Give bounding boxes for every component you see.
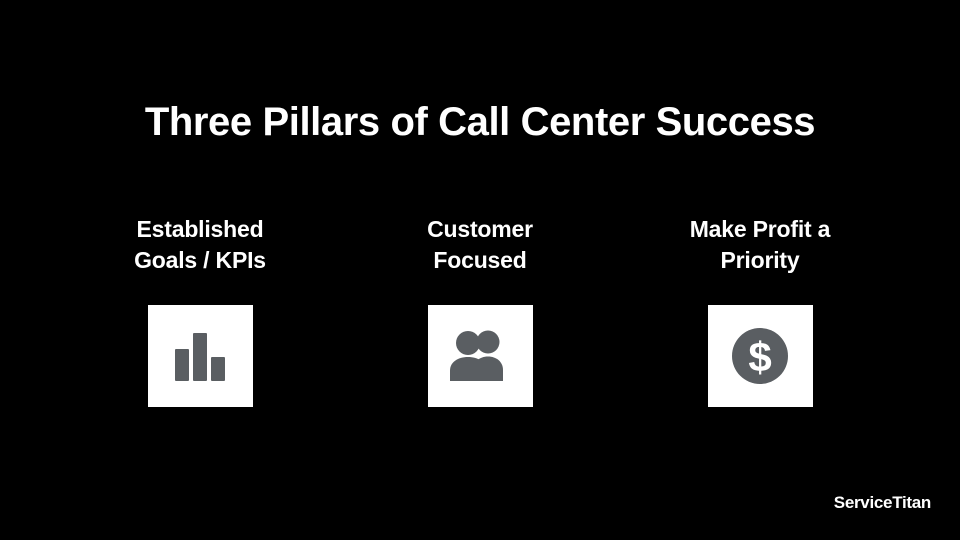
pillar-icon-tile [428,305,533,407]
pillar-icon-tile: $ [708,305,813,407]
page-title: Three Pillars of Call Center Success [0,96,960,148]
dollar-coin-icon: $ [730,326,790,386]
svg-text:$: $ [748,334,771,381]
slide-canvas: Three Pillars of Call Center Success Est… [0,0,960,540]
pillar-icon-tile [148,305,253,407]
pillar-item: Customer Focused [340,214,620,407]
people-icon [448,327,512,385]
pillar-heading: Established Goals / KPIs [134,214,266,276]
pillar-heading: Make Profit a Priority [690,214,831,276]
bar-chart-icon [171,327,229,385]
pillars-row: Established Goals / KPIs Customer Focuse… [60,214,900,424]
servicetitan-logo: ServiceTitan [834,492,931,514]
pillar-item: Make Profit a Priority $ [620,214,900,407]
pillar-item: Established Goals / KPIs [60,214,340,407]
pillar-heading: Customer Focused [427,214,533,276]
